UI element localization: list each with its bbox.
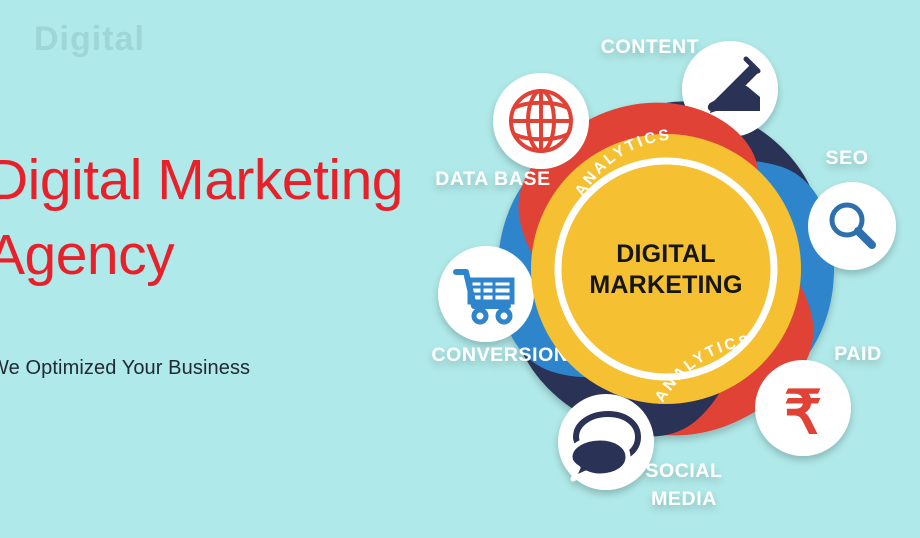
rupee-coin-icon: ₹ bbox=[755, 360, 851, 456]
left-copy-panel: Digital Digital Marketing Agency We Opti… bbox=[0, 0, 430, 538]
headline-line-2: Agency bbox=[0, 227, 457, 284]
page-title: Digital Marketing Agency bbox=[0, 152, 457, 284]
globe-grid-icon bbox=[493, 73, 589, 169]
digital-marketing-wheel: CONTENT SEO bbox=[410, 0, 920, 538]
petal-conversion-label: CONVERSION bbox=[431, 344, 568, 366]
speech-bubbles-icon bbox=[558, 394, 654, 490]
petal-paid-label: PAID bbox=[834, 343, 882, 365]
center-title-line-1: DIGITAL bbox=[616, 240, 716, 268]
petal-data-base-label: DATA BASE bbox=[435, 168, 551, 190]
magnifying-glass-icon bbox=[808, 182, 896, 270]
center-disc bbox=[531, 134, 801, 404]
petal-content-label: CONTENT bbox=[601, 36, 699, 58]
banner-root: Digital Digital Marketing Agency We Opti… bbox=[0, 0, 920, 538]
wheel-svg: CONTENT SEO bbox=[410, 0, 920, 538]
petal-social-media-label-1: SOCIAL bbox=[645, 460, 722, 482]
rupee-glyph: ₹ bbox=[784, 379, 822, 446]
logo-watermark: Digital bbox=[34, 20, 249, 68]
petal-social-media-label-2: MEDIA bbox=[651, 488, 717, 510]
shopping-cart-icon bbox=[438, 246, 534, 342]
petal-seo-label: SEO bbox=[826, 147, 869, 169]
tagline: We Optimized Your Business bbox=[0, 357, 250, 380]
center-title-line-2: MARKETING bbox=[589, 271, 742, 299]
headline-line-1: Digital Marketing bbox=[0, 148, 403, 212]
